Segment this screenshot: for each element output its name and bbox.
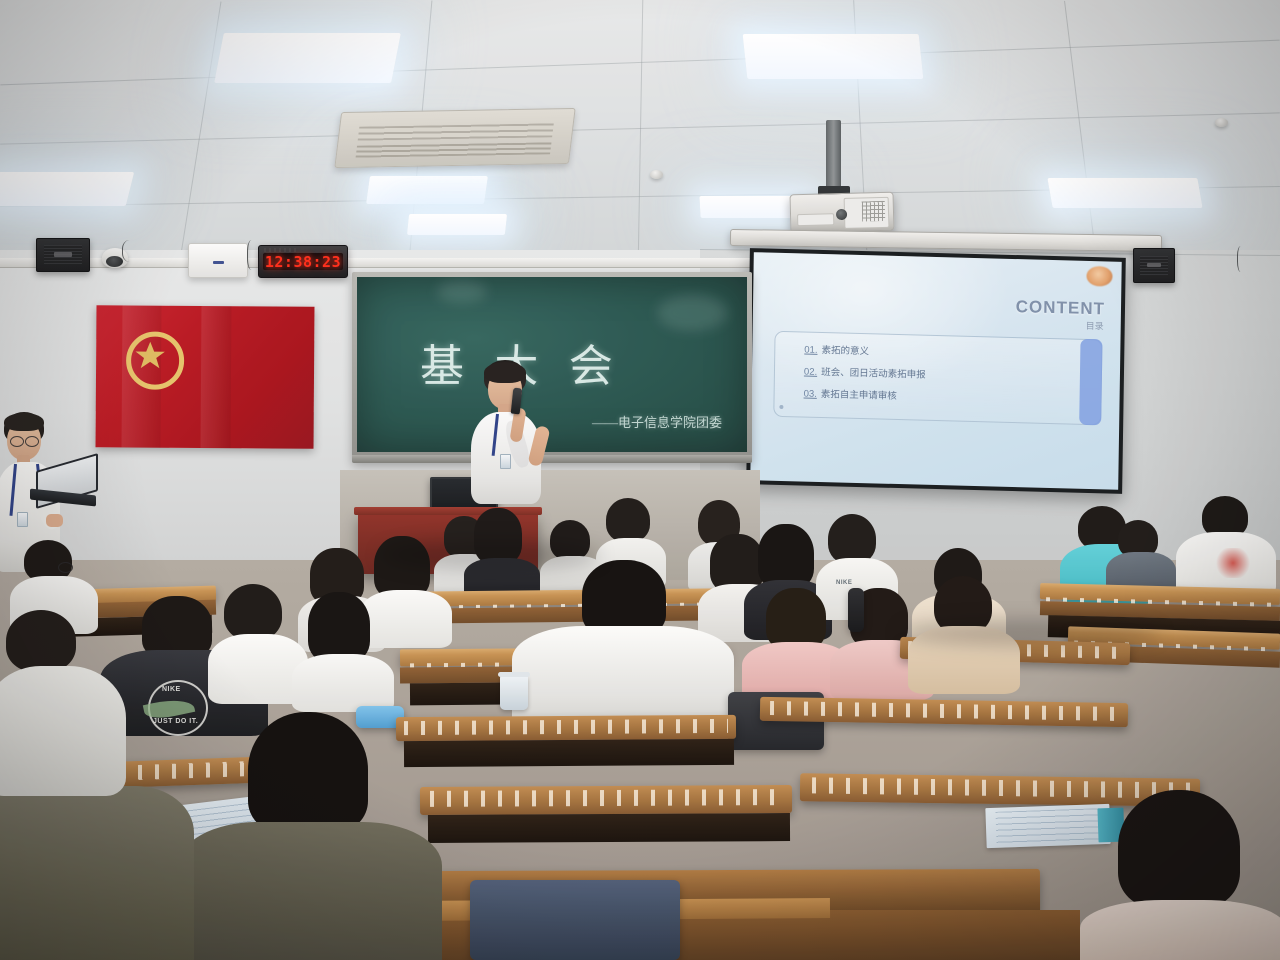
- clock-time: 12:38:23: [265, 253, 341, 271]
- smoke-detector: [1215, 118, 1228, 127]
- assistant-hand: [46, 514, 63, 527]
- clock-display: 12:38:23: [263, 253, 342, 270]
- wall-control-box: [188, 243, 248, 278]
- blackboard-subtitle: ——电子信息学院团委: [592, 412, 722, 431]
- presentation-slide: CONTENT 目录 01.素拓的意义 02.班会、团日活动素拓申报 03.素拓…: [750, 252, 1121, 490]
- communist-youth-league-flag: [96, 305, 315, 449]
- slide-item-1-label: 素拓的意义: [821, 345, 869, 357]
- slide-item-3-number: 03.: [804, 389, 817, 400]
- flag-star-icon: [134, 340, 166, 372]
- seated-student: [1106, 520, 1176, 590]
- dark-bottle: [848, 588, 864, 632]
- nike-tee-label: NIKE: [162, 686, 181, 693]
- ceiling-light-panel: [743, 34, 924, 79]
- projection-screen: CONTENT 目录 01.素拓的意义 02.班会、团日活动素拓申报 03.素拓…: [746, 248, 1126, 494]
- ceiling: [0, 0, 1280, 262]
- smoke-detector: [650, 170, 663, 179]
- ceiling-light-panel: [366, 176, 488, 204]
- slide-item-1-number: 01.: [804, 345, 817, 356]
- wall-speaker-right: [1133, 248, 1175, 283]
- ceiling-light-panel: [407, 214, 507, 235]
- camera-cable: [122, 240, 141, 262]
- tee-print: [1210, 548, 1256, 578]
- ceiling-light-panel: [214, 33, 401, 83]
- slide-logo: [1086, 266, 1112, 287]
- seated-student: [208, 584, 304, 700]
- presenter: [462, 360, 562, 520]
- drink-cup: [500, 676, 528, 710]
- right-wall-cable: [1237, 246, 1246, 272]
- slide-subheading: 目录: [1086, 319, 1104, 332]
- slide-item-3: 03.素拓自主申请审核: [804, 386, 897, 402]
- led-wall-clock: 12:38:23: [258, 245, 348, 278]
- control-box-cable: [247, 240, 258, 270]
- ceiling-projector: [790, 192, 895, 234]
- projector-mount-pole: [826, 120, 841, 194]
- backpack-foreground: [470, 880, 680, 960]
- ceiling-light-panel: [1047, 178, 1202, 208]
- tee-text: NIKE: [836, 580, 852, 586]
- seated-student: [1176, 496, 1276, 596]
- assistant-glasses: [10, 436, 24, 447]
- foreground-student: [0, 610, 120, 790]
- slide-accent-bar: [1079, 339, 1102, 426]
- held-laptop[interactable]: [30, 462, 96, 512]
- assistant-badge: [17, 512, 28, 527]
- slide-item-1: 01.素拓的意义: [804, 342, 869, 358]
- air-conditioning-vent: [334, 108, 575, 168]
- ceiling-light-panel: [0, 172, 134, 206]
- presenter-badge: [500, 454, 511, 469]
- slide-item-3-label: 素拓自主申请审核: [821, 389, 897, 402]
- foreground-student: [1080, 790, 1280, 960]
- seated-student: [292, 592, 390, 702]
- wall-speaker-left: [36, 238, 90, 272]
- slide-heading: CONTENT: [1016, 297, 1106, 319]
- foreground-student: [178, 712, 438, 960]
- lecture-hall-photo: CONTENT 目录 01.素拓的意义 02.班会、团日活动素拓申报 03.素拓…: [0, 0, 1280, 960]
- slide-item-2-number: 02.: [804, 367, 817, 378]
- seated-student: [512, 560, 730, 720]
